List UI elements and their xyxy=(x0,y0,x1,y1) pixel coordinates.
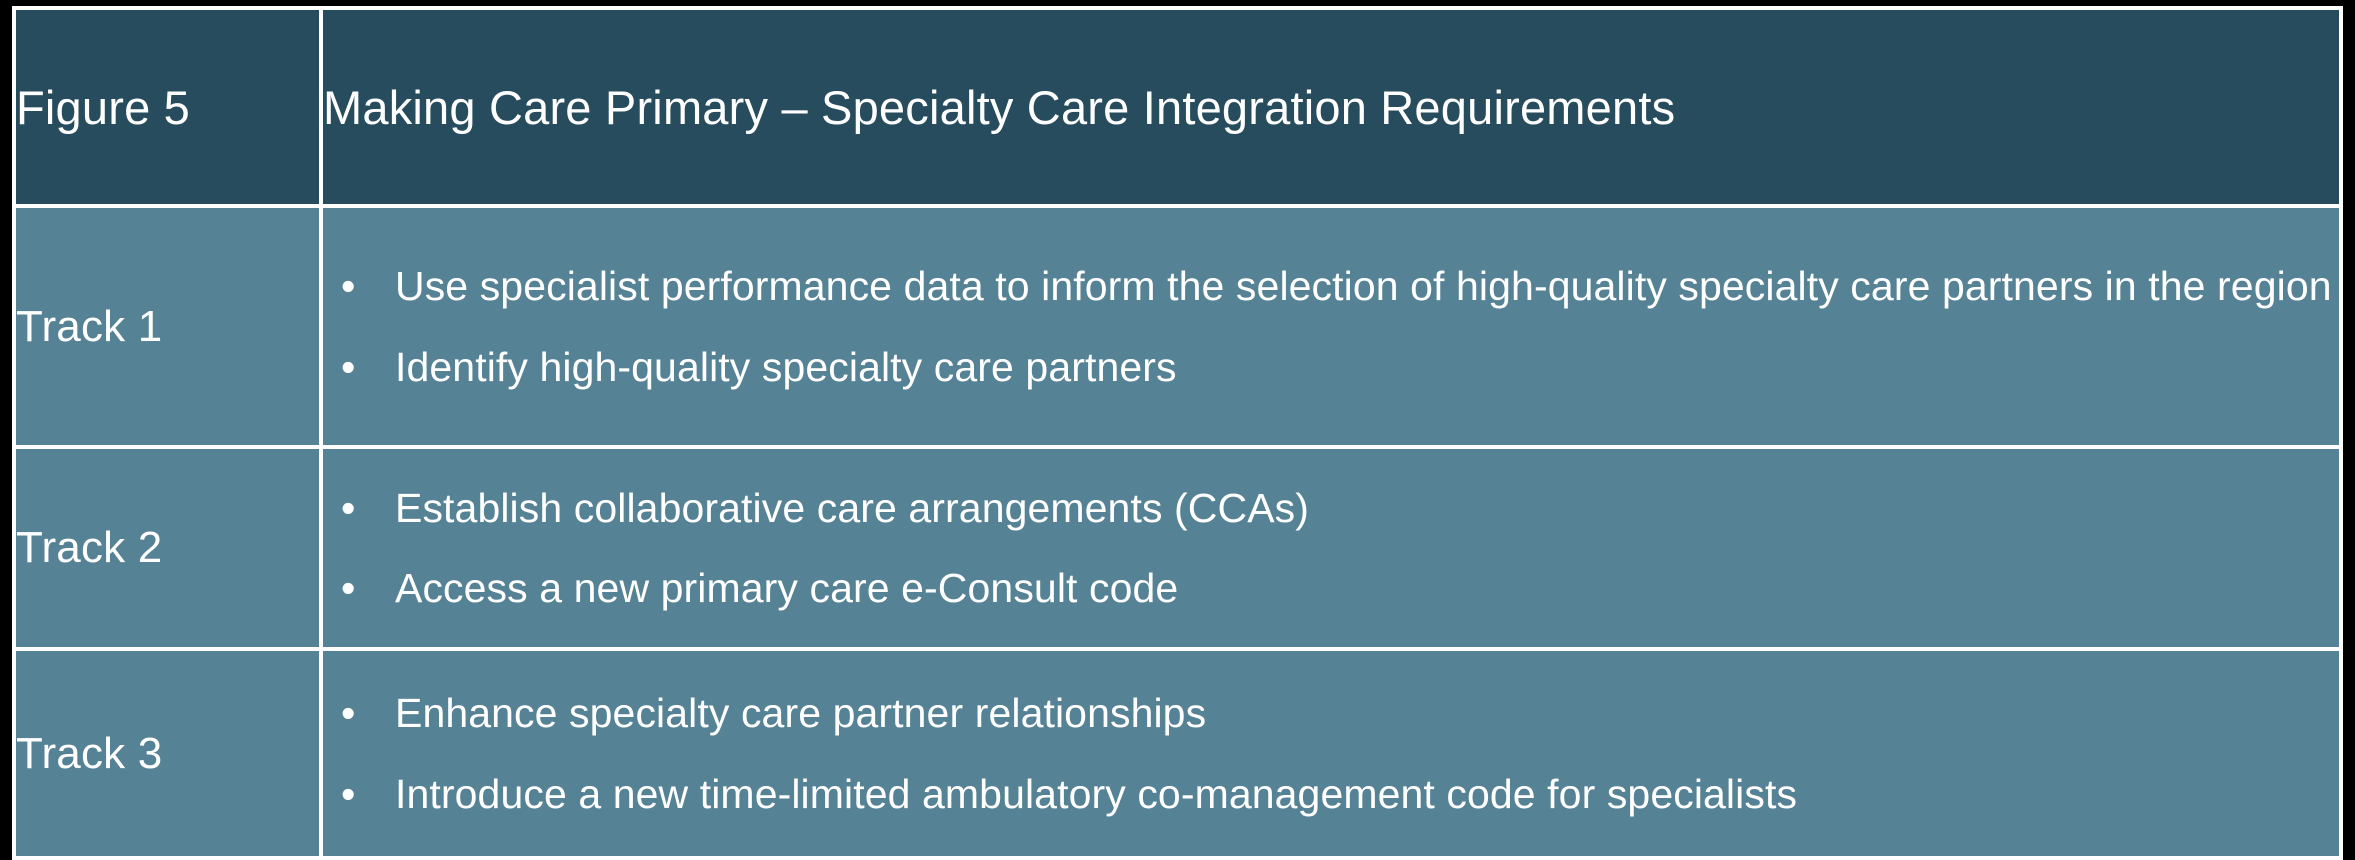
figure-title: Making Care Primary – Specialty Care Int… xyxy=(321,8,2341,206)
track-label-2: Track 2 xyxy=(14,447,321,649)
bullet-icon: • xyxy=(341,483,355,533)
requirement-list-2: • Establish collaborative care arrangeme… xyxy=(323,483,2339,613)
requirement-list-3: • Enhance specialty care partner relatio… xyxy=(323,688,2339,818)
figure-frame: Figure 5 Making Care Primary – Specialty… xyxy=(0,0,2355,852)
list-item-label: Establish collaborative care arrangement… xyxy=(395,485,1309,531)
track-requirements-1: • Use specialist performance data to inf… xyxy=(321,206,2341,447)
bullet-icon: • xyxy=(341,342,355,392)
figure-table: Figure 5 Making Care Primary – Specialty… xyxy=(12,6,2343,860)
list-item-label: Enhance specialty care partner relations… xyxy=(395,690,1206,736)
table-row-track-1: Track 1 • Use specialist performance dat… xyxy=(14,206,2341,447)
bullet-icon: • xyxy=(341,769,355,819)
requirement-list-1: • Use specialist performance data to inf… xyxy=(323,261,2339,391)
table-row-track-2: Track 2 • Establish collaborative care a… xyxy=(14,447,2341,649)
track-requirements-2: • Establish collaborative care arrangeme… xyxy=(321,447,2341,649)
list-item: • Establish collaborative care arrangeme… xyxy=(323,483,2339,533)
track-label-3: Track 3 xyxy=(14,649,321,858)
list-item-label: Identify high-quality specialty care par… xyxy=(395,344,1177,390)
list-item: • Enhance specialty care partner relatio… xyxy=(323,688,2339,738)
figure-number-label: Figure 5 xyxy=(14,8,321,206)
bullet-icon: • xyxy=(341,563,355,613)
list-item-label: Introduce a new time-limited ambulatory … xyxy=(395,771,1797,817)
bullet-icon: • xyxy=(341,261,355,311)
figure-header-row: Figure 5 Making Care Primary – Specialty… xyxy=(14,8,2341,206)
list-item: • Introduce a new time-limited ambulator… xyxy=(323,769,2339,819)
list-item: • Identify high-quality specialty care p… xyxy=(323,342,2339,392)
list-item-label: Use specialist performance data to infor… xyxy=(395,263,2332,309)
list-item-label: Access a new primary care e-Consult code xyxy=(395,565,1178,611)
list-item: • Access a new primary care e-Consult co… xyxy=(323,563,2339,613)
table-row-track-3: Track 3 • Enhance specialty care partner… xyxy=(14,649,2341,858)
list-item: • Use specialist performance data to inf… xyxy=(323,261,2339,311)
track-requirements-3: • Enhance specialty care partner relatio… xyxy=(321,649,2341,858)
bullet-icon: • xyxy=(341,688,355,738)
track-label-1: Track 1 xyxy=(14,206,321,447)
